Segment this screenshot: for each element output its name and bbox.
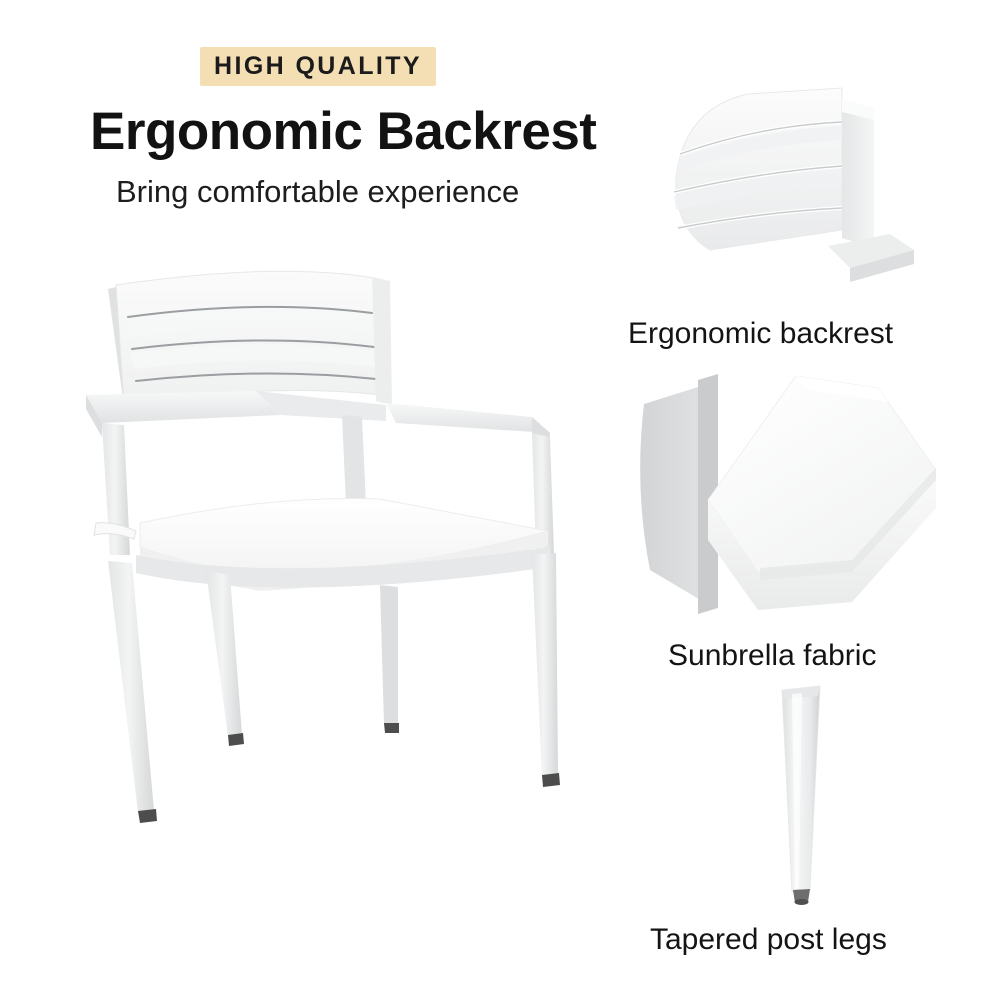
armrest-right-top bbox=[386, 403, 550, 433]
page-title: Ergonomic Backrest bbox=[90, 101, 596, 162]
foot-cap-front-left bbox=[138, 809, 157, 823]
backrest-support-post bbox=[842, 100, 874, 248]
hero-chair-illustration bbox=[80, 255, 600, 855]
backrest-detail-illustration bbox=[628, 78, 948, 298]
high-quality-badge-label: HIGH QUALITY bbox=[214, 52, 422, 81]
leg-foot-cap-bottom bbox=[795, 899, 809, 905]
front-right-leg bbox=[532, 553, 558, 777]
hero-chair-image bbox=[80, 255, 600, 855]
foot-cap-front-right bbox=[542, 773, 560, 787]
foot-cap-rear-left bbox=[228, 733, 244, 746]
backrest-panel bbox=[116, 271, 380, 403]
leg-detail-illustration bbox=[748, 682, 858, 914]
cushion-detail-illustration bbox=[640, 358, 965, 623]
foot-cap-center-rear bbox=[384, 723, 399, 733]
page-subtitle: Bring comfortable experience bbox=[116, 174, 519, 210]
front-left-leg bbox=[108, 561, 154, 813]
feature-caption-legs: Tapered post legs bbox=[650, 923, 887, 957]
rear-left-leg bbox=[206, 571, 242, 737]
feature-image-legs bbox=[748, 682, 858, 914]
armrest-left-top bbox=[86, 391, 280, 423]
feature-image-backrest bbox=[628, 78, 948, 298]
feature-image-fabric bbox=[640, 358, 965, 623]
high-quality-badge: HIGH QUALITY bbox=[200, 47, 436, 86]
armrest-left-rail bbox=[256, 391, 386, 421]
feature-caption-fabric: Sunbrella fabric bbox=[668, 639, 876, 673]
armrest-center-support bbox=[342, 415, 366, 505]
center-rear-leg bbox=[380, 585, 398, 725]
feature-caption-backrest: Ergonomic backrest bbox=[628, 317, 893, 351]
